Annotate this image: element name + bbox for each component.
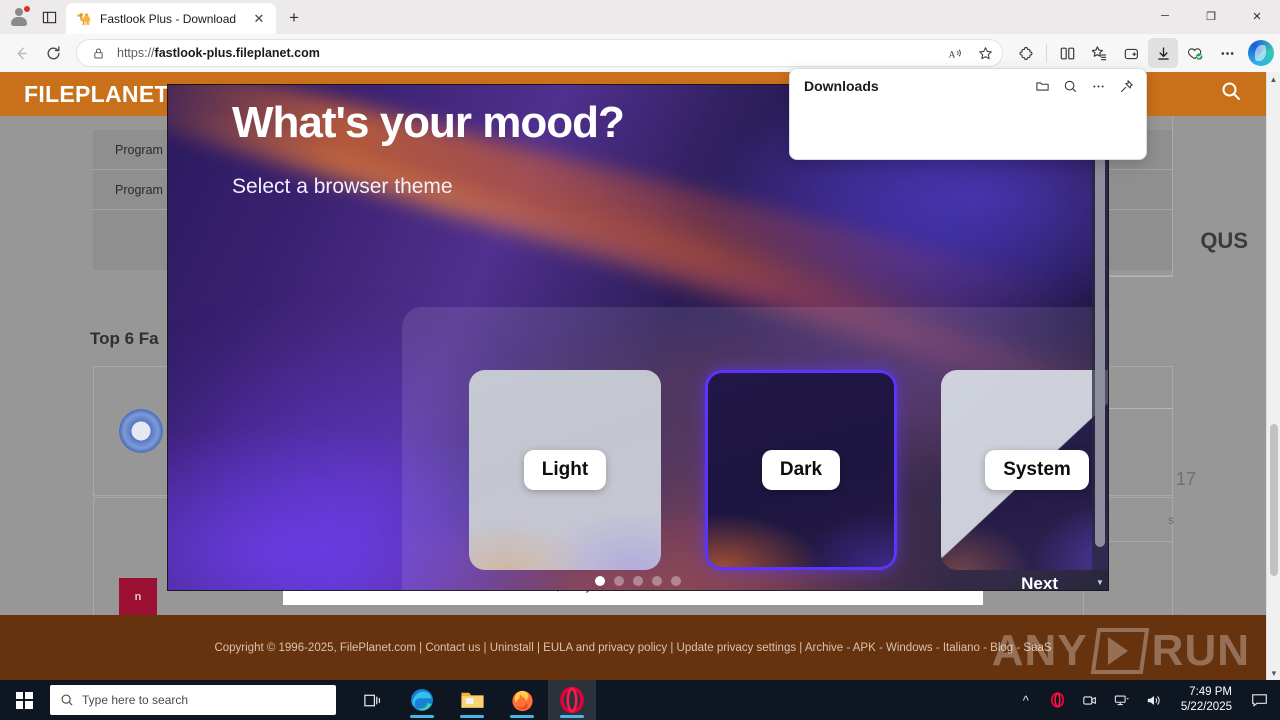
ellipsis-glyph [1219,45,1236,62]
split-screen-icon[interactable] [1052,38,1082,68]
browser-essentials-icon[interactable] [1180,38,1210,68]
dialog-scrollbar[interactable]: ▲ ▼ [1092,85,1108,590]
search-icon [60,693,74,707]
edge-glyph [409,687,435,713]
theme-label-dark: Dark [762,450,840,490]
favorite-star-icon[interactable] [974,42,996,64]
site-logo[interactable]: FILEPLANET [24,81,169,108]
page-section-title: Top 6 Fa [90,329,159,349]
maximize-button[interactable]: ❐ [1188,0,1234,32]
pagination-dot[interactable] [652,576,662,586]
task-view-glyph [363,691,382,710]
minimize-button[interactable]: ─ [1142,0,1188,32]
file-explorer-icon[interactable] [448,680,496,720]
opera-icon[interactable] [548,680,596,720]
browser-title-bar: 🐪 Fastlook Plus - Download ✕ + ─ ❐ ✕ [0,0,1280,34]
downloads-icon[interactable] [1148,38,1178,68]
title-bar-left-controls [0,0,66,34]
downloads-flyout-header: Downloads [790,69,1146,103]
copilot-icon[interactable] [1248,40,1274,66]
collections-icon[interactable] [1084,38,1114,68]
more-options-icon[interactable] [1084,72,1112,100]
file-icon-red: n [119,578,157,616]
extensions-icon[interactable] [1011,38,1041,68]
speaker-glyph [1146,693,1162,708]
show-hidden-icons-chevron[interactable]: ^ [1015,687,1037,713]
tab-strip: 🐪 Fastlook Plus - Download ✕ + [66,0,308,34]
screen-root: 🐪 Fastlook Plus - Download ✕ + ─ ❐ ✕ [0,0,1280,720]
clock-time: 7:49 PM [1181,685,1232,700]
microsoft-edge-icon[interactable] [398,680,446,720]
download-arrow-glyph [1155,45,1172,62]
open-folder-icon[interactable] [1028,72,1056,100]
site-footer: Copyright © 1996-2025, FilePlanet.com | … [0,615,1266,680]
taskbar-search-input[interactable]: Type here to search [50,685,336,715]
downloads-title: Downloads [804,78,1028,94]
vertical-tabs-icon [42,10,57,25]
scroll-down-arrow-icon[interactable]: ▼ [1092,574,1108,590]
back-arrow-icon [13,45,30,62]
network-icon[interactable] [1111,687,1133,713]
opera-tray-icon[interactable] [1047,687,1069,713]
theme-option-dark[interactable]: Dark [705,370,897,570]
read-aloud-glyph: A [948,46,963,61]
firefox-glyph [510,688,535,713]
page-scrollbar[interactable]: ▲ ▼ [1266,72,1280,680]
pin-icon[interactable] [1112,72,1140,100]
footer-links[interactable]: Copyright © 1996-2025, FilePlanet.com | … [214,642,1051,654]
collections-glyph [1091,45,1108,62]
network-glyph [1114,693,1130,708]
theme-option-system[interactable]: System [941,370,1108,570]
file-icon-seal [119,409,163,453]
next-button[interactable]: Next [1021,574,1058,590]
theme-option-light[interactable]: Light [469,370,661,570]
opera-glyph [1050,692,1065,708]
action-center-icon[interactable] [1248,687,1270,713]
window-controls: ─ ❐ ✕ [1142,0,1280,34]
pagination-dot[interactable] [671,576,681,586]
speech-bubble-glyph [1251,692,1268,708]
windows-taskbar: Type here to search [0,680,1280,720]
browser-essentials-glyph [1186,44,1204,62]
taskbar-apps [348,680,596,720]
split-screen-glyph [1059,45,1076,62]
scroll-down-arrow-icon[interactable]: ▼ [1267,666,1280,680]
tab-actions-icon[interactable] [36,4,62,30]
address-bar[interactable]: https://fastlook-plus.fileplanet.com A [76,39,1003,67]
taskbar-clock[interactable]: 7:49 PM 5/22/2025 [1175,685,1238,715]
close-window-button[interactable]: ✕ [1234,0,1280,32]
task-view-icon[interactable] [348,680,396,720]
tab-title: Fastlook Plus - Download [100,12,242,26]
theme-selection-panel: Light Dark System [402,307,1108,590]
volume-icon[interactable] [1143,687,1165,713]
folder-glyph [1035,79,1050,94]
ellipsis-glyph [1091,79,1106,94]
camera-tray-icon[interactable] [1079,687,1101,713]
toolbar-divider [1046,44,1047,62]
add-tab-glyph [1123,45,1140,62]
pagination-dot[interactable] [595,576,605,586]
pagination-dot[interactable] [614,576,624,586]
text-fragment-17: 17 [1176,469,1196,490]
page-scrollbar-thumb[interactable] [1270,424,1278,576]
address-bar-url: https://fastlook-plus.fileplanet.com [117,46,936,60]
tab-close-icon[interactable]: ✕ [250,10,268,28]
svg-text:A: A [948,50,955,60]
reload-button[interactable] [38,38,68,68]
start-button[interactable] [0,680,48,720]
lock-icon [87,42,109,64]
scroll-up-arrow-icon[interactable]: ▲ [1267,72,1280,86]
text-fragment-s: s [1168,513,1174,527]
camera-glyph [1082,693,1098,708]
onboarding-pagination [168,576,1108,586]
pin-glyph [1119,79,1134,94]
dialog-subtitle: Select a browser theme [232,175,1048,199]
avatar-alert-dot [23,5,31,13]
magnifier-glyph [1063,79,1078,94]
downloads-flyout: Downloads [789,68,1147,160]
settings-more-icon[interactable] [1212,38,1242,68]
browser-tab[interactable]: 🐪 Fastlook Plus - Download ✕ [66,3,276,34]
new-tab-button[interactable]: + [280,4,308,32]
opera-onboarding-dialog: What's your mood? Select a browser theme… [168,85,1108,590]
star-glyph [978,46,993,61]
back-button[interactable] [6,38,36,68]
reload-icon [45,45,62,62]
clock-date: 5/22/2025 [1181,700,1232,715]
profile-avatar[interactable] [6,4,32,30]
search-icon[interactable] [1220,80,1242,108]
opera-glyph [560,687,584,713]
system-tray: ^ [1015,685,1280,715]
magnifier-glyph [1220,80,1242,102]
windows-logo-icon [16,692,33,709]
dialog-scrollbar-thumb[interactable] [1095,107,1105,547]
theme-label-light: Light [524,450,606,490]
padlock-glyph [92,47,105,60]
folder-glyph [460,689,485,711]
taskbar-search-placeholder: Type here to search [82,693,188,707]
theme-label-system: System [985,450,1089,490]
camel-favicon: 🐪 [76,11,92,27]
puzzle-glyph [1018,45,1035,62]
read-aloud-icon[interactable]: A [944,42,966,64]
add-tab-group-icon[interactable] [1116,38,1146,68]
search-icon[interactable] [1056,72,1084,100]
firefox-icon[interactable] [498,680,546,720]
browser-toolbar: https://fastlook-plus.fileplanet.com A [0,34,1280,72]
pagination-dot[interactable] [633,576,643,586]
text-fragment-qus: QUS [1200,228,1248,254]
